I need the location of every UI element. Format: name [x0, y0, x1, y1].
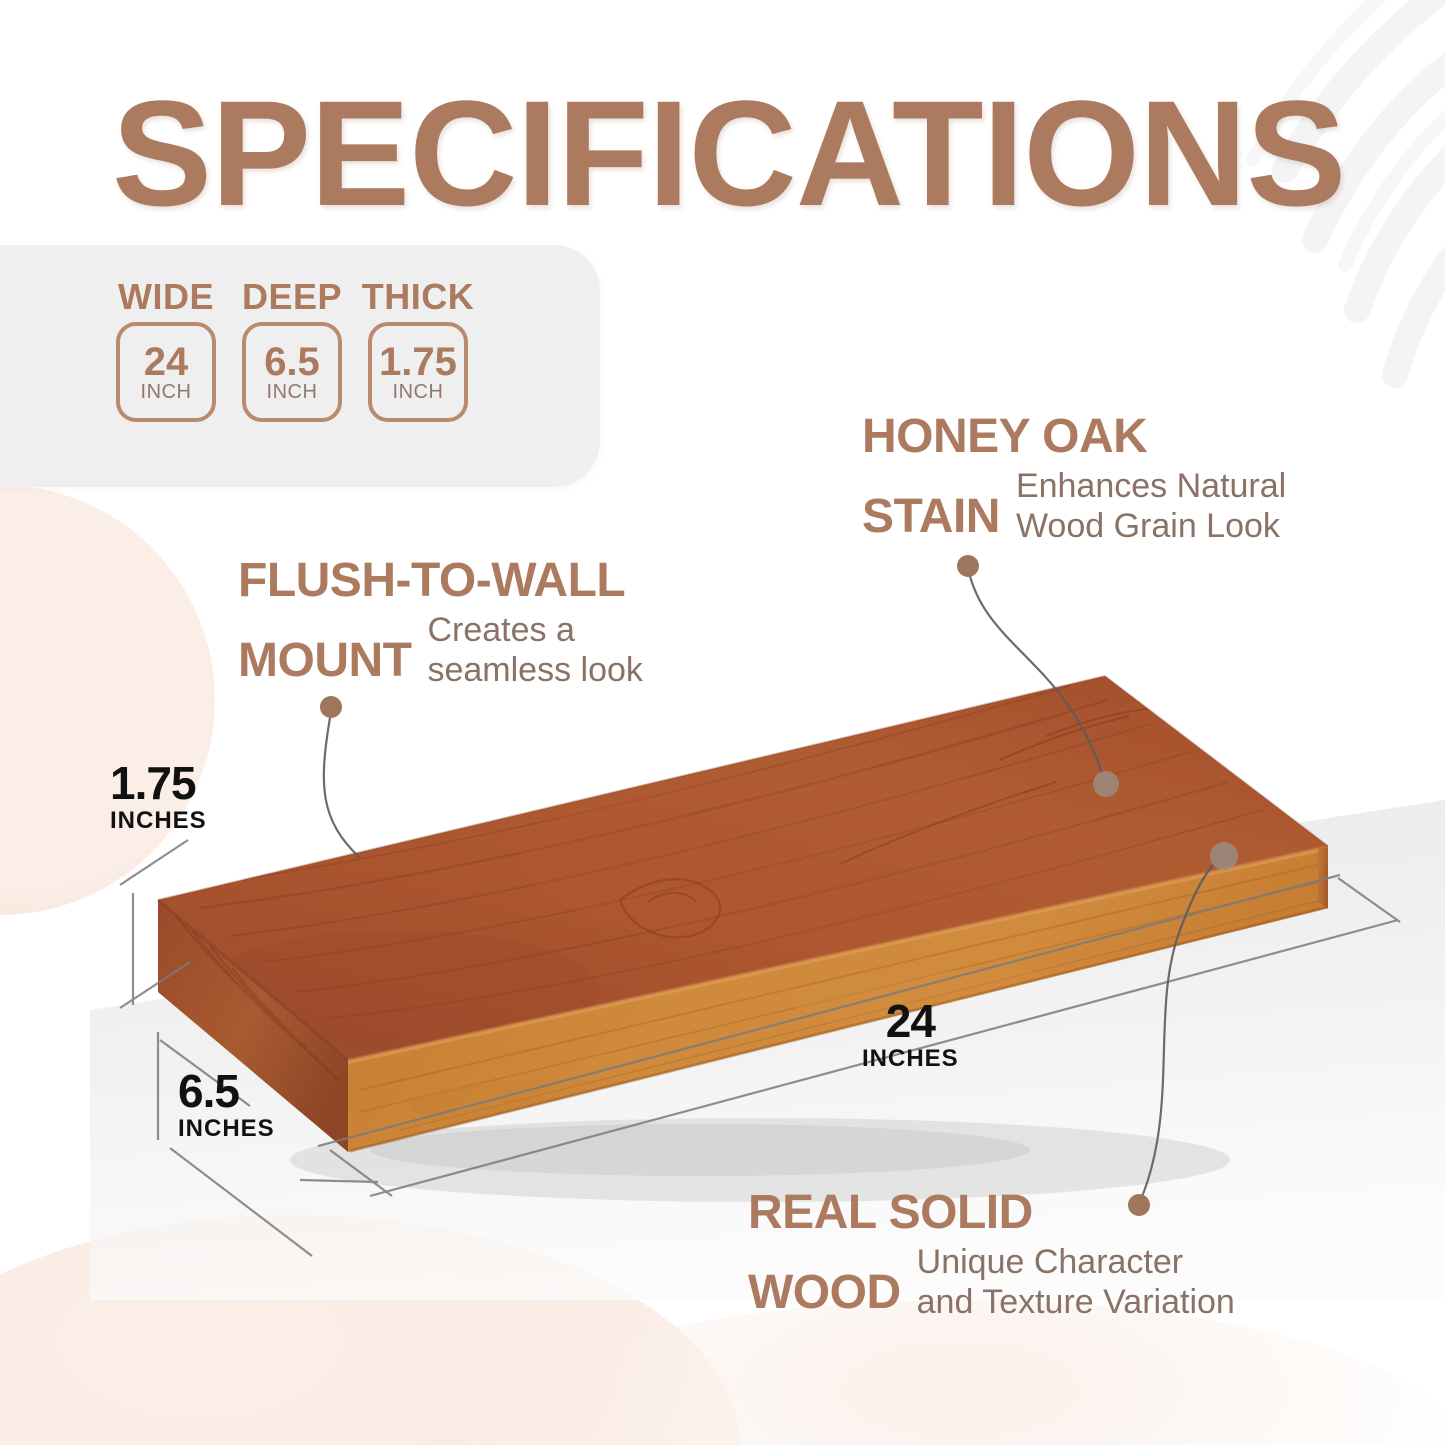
dot-real-solid-wood-target [1210, 842, 1238, 870]
dimension-unit-depth: INCHES [178, 1116, 275, 1142]
shelf-front-face [348, 846, 1330, 1152]
dot-flush-to-wall-label [320, 696, 342, 718]
spec-unit-thick: INCH [393, 382, 444, 402]
dimension-unit-thickness: INCHES [110, 808, 207, 834]
callout-honey-heading-line1: HONEY OAK [862, 412, 1286, 462]
callout-flush-heading-line2: MOUNT [238, 636, 411, 686]
dot-honey-oak-label [957, 555, 979, 577]
leader-real-solid-wood [1139, 856, 1222, 1204]
spec-unit-deep: INCH [267, 382, 318, 402]
callout-wood-sub-line1: Unique Character [917, 1242, 1235, 1282]
decorative-blob-bottom [0, 1215, 740, 1445]
dot-honey-oak-target [1093, 771, 1119, 797]
callout-flush-to-wall-mount: FLUSH-TO-WALL MOUNT Creates a seamless l… [238, 556, 643, 686]
callout-honey-heading-line2: STAIN [862, 492, 1000, 542]
specifications-panel: WIDE 24 INCH DEEP 6.5 INCH THICK 1.75 IN… [0, 245, 600, 487]
infographic-canvas: SPECIFICATIONS WIDE 24 INCH DEEP 6.5 INC… [0, 0, 1445, 1445]
dimension-value-width: 24 [862, 998, 959, 1044]
shelf-top-face [158, 676, 1350, 1060]
dimension-unit-width: INCHES [862, 1046, 959, 1072]
shelf-right-end-face [1318, 842, 1328, 908]
spec-value-wide: 24 [144, 343, 189, 381]
dimension-label-width: 24 INCHES [862, 998, 959, 1072]
callout-flush-heading-line1: FLUSH-TO-WALL [238, 556, 643, 606]
callout-flush-sub-line2: seamless look [427, 650, 642, 690]
spec-value-thick: 1.75 [379, 343, 457, 381]
decorative-circle-left [0, 485, 215, 915]
dimension-value-depth: 6.5 [178, 1068, 275, 1114]
callout-honey-sub-line1: Enhances Natural [1016, 466, 1286, 506]
callout-real-solid-wood: REAL SOLID WOOD Unique Character and Tex… [748, 1188, 1235, 1318]
spec-caption-thick: THICK [362, 279, 475, 315]
callout-honey-oak-stain: HONEY OAK STAIN Enhances Natural Wood Gr… [862, 412, 1286, 542]
spec-badge-thick: THICK 1.75 INCH [367, 279, 469, 422]
spec-badge-row: WIDE 24 INCH DEEP 6.5 INCH THICK 1.75 IN… [115, 279, 469, 422]
spec-badge-wide: WIDE 24 INCH [115, 279, 217, 422]
spec-caption-wide: WIDE [118, 279, 214, 315]
spec-unit-wide: INCH [141, 382, 192, 402]
callout-wood-sub-line2: and Texture Variation [917, 1282, 1235, 1322]
spec-box-thick: 1.75 INCH [368, 322, 468, 422]
page-title: SPECIFICATIONS [112, 78, 1345, 228]
dimension-label-depth: 6.5 INCHES [178, 1068, 275, 1142]
spec-box-wide: 24 INCH [116, 322, 216, 422]
callout-wood-heading-line1: REAL SOLID [748, 1188, 1235, 1238]
spec-box-deep: 6.5 INCH [242, 322, 342, 422]
dimension-value-thickness: 1.75 [110, 760, 207, 806]
spec-caption-deep: DEEP [242, 279, 342, 315]
dimension-label-thickness: 1.75 INCHES [110, 760, 207, 834]
spec-value-deep: 6.5 [264, 343, 320, 381]
callout-honey-sub-line2: Wood Grain Look [1016, 506, 1286, 546]
leader-honey-oak [968, 568, 1106, 786]
leader-flush-to-wall [324, 712, 360, 858]
callout-wood-heading-line2: WOOD [748, 1268, 901, 1318]
spec-badge-deep: DEEP 6.5 INCH [241, 279, 343, 422]
callout-flush-sub-line1: Creates a [427, 610, 642, 650]
